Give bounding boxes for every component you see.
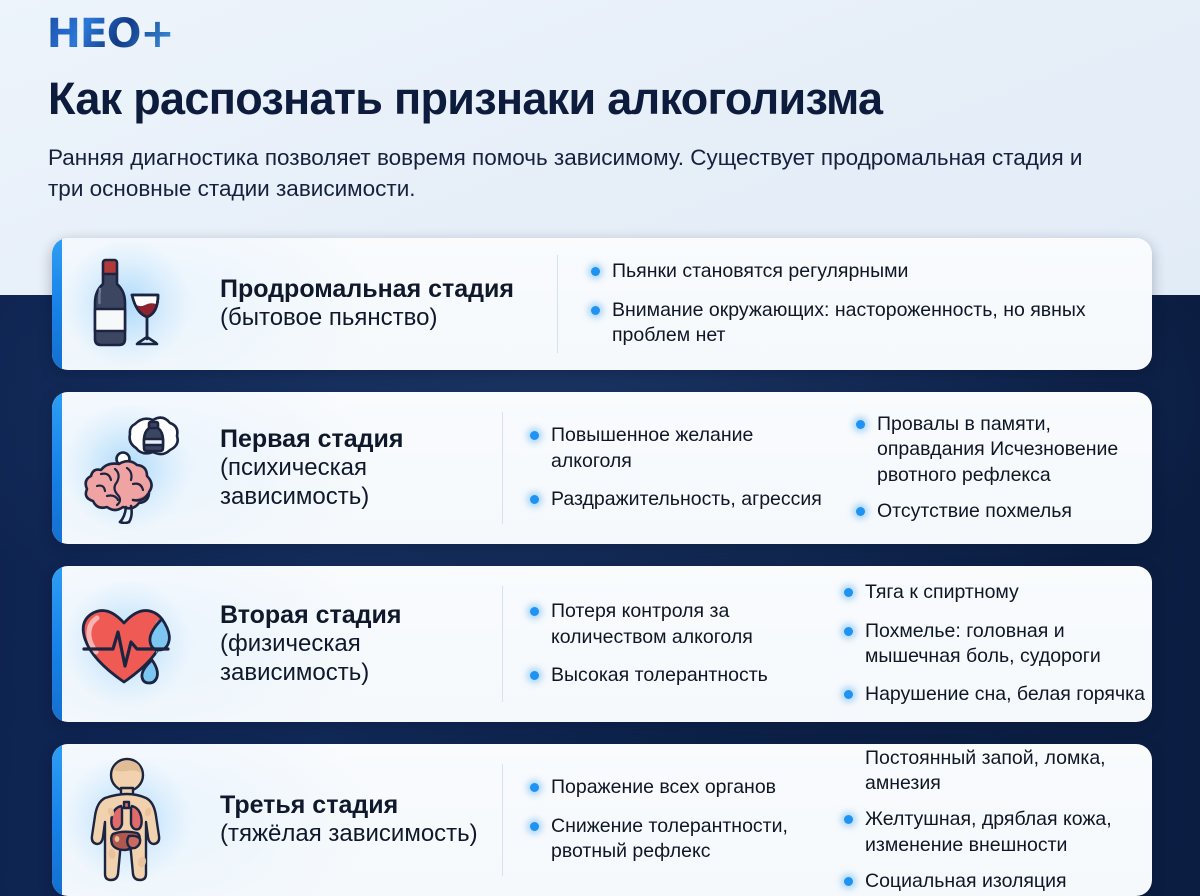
stage-card-third: Третья стадия (тяжёлая зависимость) Пора…: [52, 744, 1152, 896]
stage-name: Первая стадия: [220, 425, 488, 454]
brand-logo: HEO+: [47, 14, 174, 54]
stage-name: Продромальная стадия: [220, 275, 543, 304]
list-item: Поражение всех органов: [529, 775, 815, 800]
list-item: Тяга к спиртному: [843, 580, 1152, 605]
stage-title-cell: Третья стадия (тяжёлая зависимость): [202, 744, 502, 896]
stage-title-cell: Вторая стадия (физическая зависимость): [202, 566, 502, 722]
stage-subtitle: (тяжёлая зависимость): [220, 820, 488, 849]
list-item: Социальная изоляция: [843, 869, 1152, 894]
bullet-columns: Пьянки становятся регулярными Внимание о…: [557, 255, 1152, 353]
human-body-organs-icon: [75, 756, 179, 884]
stage-name: Третья стадия: [220, 791, 488, 820]
list-item: Высокая толерантность: [529, 663, 815, 688]
stage-card-second: Вторая стадия (физическая зависимость) П…: [52, 566, 1152, 722]
list-item: Внимание окружающих: настороженность, но…: [590, 298, 1152, 349]
list-item: Нарушение сна, белая горячка: [843, 682, 1152, 707]
page-title: Как распознать признаки алкоголизма: [48, 76, 1168, 123]
bullet-column: Тяга к спиртному Похмелье: головная и мы…: [815, 586, 1152, 701]
icon-cell: [52, 238, 202, 370]
brain-with-thought-bubble-icon: [71, 412, 183, 524]
list-item: Пьянки становятся регулярными: [590, 259, 1152, 284]
wine-bottle-and-glass-icon: [75, 255, 179, 353]
icon-cell: [52, 566, 202, 722]
list-item: Снижение толерантности, рвотный рефлекс: [529, 814, 815, 865]
heart-with-heartbeat-icon: [72, 594, 182, 694]
bullet-column: Провалы в памяти, оправдания Исчезновени…: [823, 412, 1152, 524]
bullet-columns: Повышенное желание алкоголя Раздражитель…: [502, 412, 1152, 524]
list-item: Постоянный запой, ломка, амнезия: [843, 746, 1152, 797]
bullet-columns: Поражение всех органов Снижение толерант…: [502, 764, 1152, 876]
icon-cell: [52, 392, 202, 544]
bullet-column: Потеря контроля за количеством алкоголя …: [503, 586, 815, 701]
stage-card-first: Первая стадия (психическая зависимость) …: [52, 392, 1152, 544]
stage-subtitle: (физическая зависимость): [220, 630, 488, 688]
page-subtitle: Ранняя диагностика позволяет вовремя пом…: [48, 143, 1108, 204]
list-item: Желтушная, дряблая кожа, изменение внешн…: [843, 807, 1152, 858]
bullet-column: Повышенное желание алкоголя Раздражитель…: [503, 412, 823, 524]
stage-subtitle: (психическая зависимость): [220, 454, 488, 512]
list-item: Потеря контроля за количеством алкоголя: [529, 599, 815, 650]
list-item: Раздражительность, агрессия: [529, 487, 823, 512]
bullet-columns: Потеря контроля за количеством алкоголя …: [502, 586, 1152, 701]
list-item: Повышенное желание алкоголя: [529, 423, 823, 474]
bullet-column: Постоянный запой, ломка, амнезия Желтушн…: [815, 764, 1152, 876]
stage-title-cell: Продромальная стадия (бытовое пьянство): [202, 238, 557, 370]
bullet-column: Поражение всех органов Снижение толерант…: [503, 764, 815, 876]
stage-subtitle: (бытовое пьянство): [220, 304, 543, 333]
bullet-column: Пьянки становятся регулярными Внимание о…: [558, 255, 1152, 353]
icon-cell: [52, 744, 202, 896]
list-item: Похмелье: головная и мышечная боль, судо…: [843, 619, 1152, 670]
list-item: Отсутствие похмелья: [855, 499, 1152, 524]
stage-name: Вторая стадия: [220, 601, 488, 630]
stage-card-prodromal: Продромальная стадия (бытовое пьянство) …: [52, 238, 1152, 370]
stage-title-cell: Первая стадия (психическая зависимость): [202, 392, 502, 544]
list-item: Провалы в памяти, оправдания Исчезновени…: [855, 412, 1152, 488]
